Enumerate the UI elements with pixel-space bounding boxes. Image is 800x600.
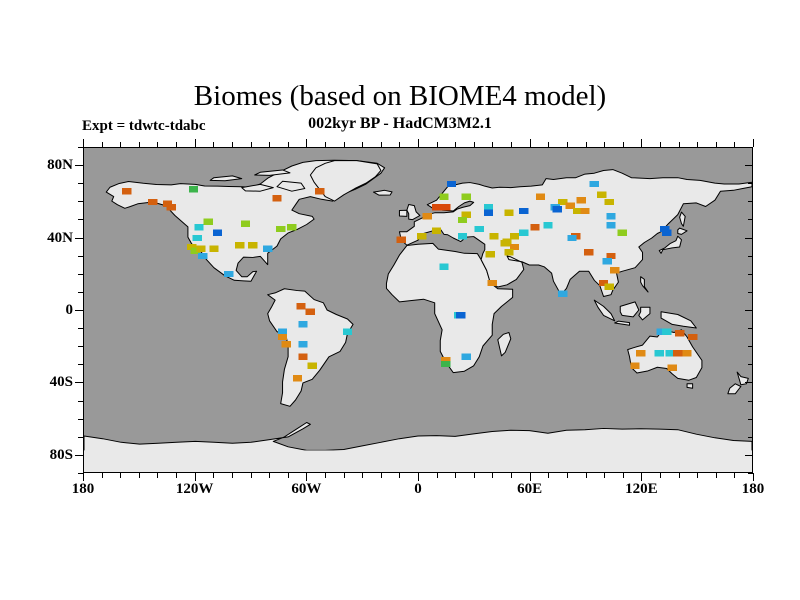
biome-marker <box>486 251 495 257</box>
x-axis-inner-tick <box>474 142 475 147</box>
x-axis-major-tick <box>418 473 419 481</box>
y-axis-label: 0 <box>66 303 74 318</box>
x-axis-inner-tick <box>344 142 345 147</box>
x-axis-label: 120E <box>625 482 658 497</box>
x-axis-minor-tick <box>176 473 177 478</box>
x-axis-minor-tick <box>120 473 121 478</box>
biome-marker <box>504 249 513 255</box>
biome-marker <box>193 235 202 241</box>
x-axis-inner-tick <box>697 142 698 147</box>
y-axis-minor-tick <box>78 256 83 257</box>
biome-marker <box>167 204 176 210</box>
biome-marker <box>504 210 513 216</box>
x-axis-minor-tick <box>213 473 214 478</box>
biome-marker <box>484 210 493 216</box>
biome-marker <box>675 330 684 336</box>
y-axis-inner-tick <box>745 165 753 166</box>
biome-marker <box>604 283 613 289</box>
x-axis-inner-tick <box>102 142 103 147</box>
y-axis-minor-tick <box>78 437 83 438</box>
x-axis-minor-tick <box>139 473 140 478</box>
biome-marker <box>397 237 406 243</box>
biome-marker <box>306 309 315 315</box>
biome-marker <box>584 249 593 255</box>
biome-marker <box>610 267 619 273</box>
y-axis-minor-tick <box>78 346 83 347</box>
x-axis-label: 60W <box>291 482 321 497</box>
biome-marker <box>439 264 448 270</box>
biome-marker <box>447 181 456 187</box>
y-axis-major-tick <box>75 455 83 456</box>
biome-marker <box>224 271 233 277</box>
x-axis-inner-tick <box>753 139 754 147</box>
x-axis-minor-tick <box>102 473 103 478</box>
biome-marker <box>278 334 287 340</box>
x-axis-label: 0 <box>414 482 422 497</box>
biome-marker <box>662 328 671 334</box>
biome-marker <box>606 213 615 219</box>
biome-marker <box>543 222 552 228</box>
biome-marker <box>673 350 682 356</box>
figure-canvas: Biomes (based on BIOME4 model) 002kyr BP… <box>0 0 800 600</box>
y-axis-inner-tick <box>748 328 753 329</box>
x-axis-minor-tick <box>269 473 270 478</box>
x-axis-inner-tick <box>586 142 587 147</box>
biome-marker <box>198 253 207 259</box>
y-axis-inner-tick <box>748 292 753 293</box>
y-axis-minor-tick <box>78 219 83 220</box>
y-axis-inner-tick <box>748 437 753 438</box>
x-axis-minor-tick <box>437 473 438 478</box>
x-axis-minor-tick <box>697 473 698 478</box>
biome-marker <box>196 246 205 252</box>
biome-marker <box>662 229 671 235</box>
x-axis-inner-tick <box>83 139 84 147</box>
x-axis-inner-tick <box>437 142 438 147</box>
x-axis-minor-tick <box>455 473 456 478</box>
biome-marker <box>577 197 586 203</box>
x-axis-minor-tick <box>474 473 475 478</box>
x-axis-minor-tick <box>344 473 345 478</box>
x-axis-minor-tick <box>362 473 363 478</box>
x-axis-minor-tick <box>623 473 624 478</box>
x-axis-inner-tick <box>213 142 214 147</box>
x-axis-major-tick <box>753 473 754 481</box>
biome-marker <box>590 181 599 187</box>
x-axis-inner-tick <box>232 142 233 147</box>
biome-marker <box>263 246 272 252</box>
biome-marker <box>272 195 281 201</box>
biome-marker <box>148 199 157 205</box>
biome-marker <box>343 328 352 334</box>
biome-marker <box>458 217 467 223</box>
map-plot-area <box>83 147 753 473</box>
x-axis-inner-tick <box>418 139 419 147</box>
x-axis-inner-tick <box>660 142 661 147</box>
biome-marker <box>298 321 307 327</box>
x-axis-inner-tick <box>176 142 177 147</box>
world-map <box>84 148 752 472</box>
x-axis-minor-tick <box>660 473 661 478</box>
y-axis-minor-tick <box>78 183 83 184</box>
x-axis-label: 120W <box>176 482 214 497</box>
x-axis-inner-tick <box>567 142 568 147</box>
y-axis-label: 80S <box>50 448 73 463</box>
y-axis-inner-tick <box>748 419 753 420</box>
x-axis-inner-tick <box>548 142 549 147</box>
y-axis-inner-tick <box>748 401 753 402</box>
biome-marker <box>519 229 528 235</box>
biome-marker <box>688 334 697 340</box>
biome-marker <box>241 220 250 226</box>
biome-marker <box>189 186 198 192</box>
y-axis-inner-tick <box>748 256 753 257</box>
biome-marker <box>432 204 441 210</box>
x-axis-minor-tick <box>511 473 512 478</box>
x-axis-minor-tick <box>325 473 326 478</box>
biome-marker <box>235 242 244 248</box>
biome-marker <box>488 280 497 286</box>
x-axis-inner-tick <box>195 139 196 147</box>
x-axis-inner-tick <box>362 142 363 147</box>
y-axis-minor-tick <box>78 292 83 293</box>
y-axis-major-tick <box>75 310 83 311</box>
biome-marker <box>441 204 450 210</box>
y-axis-minor-tick <box>78 364 83 365</box>
biome-marker <box>558 291 567 297</box>
x-axis-inner-tick <box>716 142 717 147</box>
biome-marker <box>287 224 296 230</box>
biome-marker <box>456 312 465 318</box>
biome-marker <box>213 229 222 235</box>
biome-marker <box>655 350 664 356</box>
x-axis-minor-tick <box>251 473 252 478</box>
x-axis-minor-tick <box>157 473 158 478</box>
biome-marker <box>603 258 612 264</box>
x-axis-label: 180 <box>742 482 765 497</box>
y-axis-minor-tick <box>78 274 83 275</box>
x-axis-minor-tick <box>548 473 549 478</box>
x-axis-inner-tick <box>251 142 252 147</box>
y-axis-inner-tick <box>748 147 753 148</box>
x-axis-minor-tick <box>567 473 568 478</box>
x-axis-inner-tick <box>325 142 326 147</box>
biome-marker <box>432 228 441 234</box>
biome-marker <box>315 188 324 194</box>
x-axis-minor-tick <box>381 473 382 478</box>
x-axis-minor-tick <box>716 473 717 478</box>
y-axis-minor-tick <box>78 419 83 420</box>
y-axis-inner-tick <box>745 382 753 383</box>
biome-marker <box>475 226 484 232</box>
biome-marker <box>682 350 691 356</box>
y-axis-inner-tick <box>745 238 753 239</box>
x-axis-inner-tick <box>399 142 400 147</box>
landmass-antarctic-interior <box>84 450 752 472</box>
biome-marker <box>604 199 613 205</box>
x-axis-inner-tick <box>604 142 605 147</box>
y-axis-inner-tick <box>748 201 753 202</box>
y-axis-label: 80N <box>47 158 73 173</box>
biome-marker <box>298 341 307 347</box>
x-axis-major-tick <box>530 473 531 481</box>
y-axis-inner-tick <box>748 183 753 184</box>
x-axis-inner-tick <box>455 142 456 147</box>
x-axis-inner-tick <box>623 142 624 147</box>
biome-marker <box>462 354 471 360</box>
biome-marker <box>536 193 545 199</box>
biome-marker <box>597 192 606 198</box>
x-axis-major-tick <box>83 473 84 481</box>
biome-marker <box>580 208 589 214</box>
y-axis-inner-tick <box>745 455 753 456</box>
x-axis-inner-tick <box>492 142 493 147</box>
y-axis-minor-tick <box>78 401 83 402</box>
x-axis-minor-tick <box>586 473 587 478</box>
biome-marker <box>209 246 218 252</box>
x-axis-inner-tick <box>288 142 289 147</box>
y-axis-inner-tick <box>748 364 753 365</box>
x-axis-minor-tick <box>492 473 493 478</box>
x-axis-major-tick <box>306 473 307 481</box>
y-axis-inner-tick <box>748 274 753 275</box>
biome-marker <box>308 363 317 369</box>
page-title: Biomes (based on BIOME4 model) <box>0 80 800 112</box>
experiment-label: Expt = tdwtc-tdabc <box>82 117 206 135</box>
y-axis-minor-tick <box>78 328 83 329</box>
x-axis-label: 60E <box>517 482 542 497</box>
y-axis-major-tick <box>75 382 83 383</box>
x-axis-inner-tick <box>139 142 140 147</box>
x-axis-major-tick <box>641 473 642 481</box>
biome-marker <box>194 224 203 230</box>
landmass-tasmania <box>687 384 693 389</box>
x-axis-minor-tick <box>399 473 400 478</box>
x-axis-inner-tick <box>306 139 307 147</box>
y-axis-inner-tick <box>748 346 753 347</box>
x-axis-inner-tick <box>157 142 158 147</box>
biome-marker <box>439 193 448 199</box>
biome-marker <box>282 341 291 347</box>
x-axis-major-tick <box>195 473 196 481</box>
x-axis-inner-tick <box>734 142 735 147</box>
biome-marker <box>630 363 639 369</box>
x-axis-minor-tick <box>679 473 680 478</box>
y-axis-major-tick <box>75 165 83 166</box>
biome-marker <box>423 213 432 219</box>
biome-marker <box>293 375 302 381</box>
biome-marker <box>298 354 307 360</box>
biome-marker <box>530 224 539 230</box>
biome-marker <box>567 235 576 241</box>
x-axis-minor-tick <box>734 473 735 478</box>
biome-marker <box>248 242 257 248</box>
biome-marker <box>122 188 131 194</box>
x-axis-inner-tick <box>641 139 642 147</box>
x-axis-label: 180 <box>72 482 95 497</box>
y-axis-major-tick <box>75 238 83 239</box>
biome-marker <box>276 226 285 232</box>
biome-marker <box>296 303 305 309</box>
biome-marker <box>458 233 467 239</box>
biome-marker <box>606 222 615 228</box>
biome-marker <box>617 229 626 235</box>
x-axis-minor-tick <box>288 473 289 478</box>
x-axis-minor-tick <box>604 473 605 478</box>
landmass-ireland <box>399 210 406 216</box>
biome-marker <box>636 350 645 356</box>
x-axis-minor-tick <box>232 473 233 478</box>
y-axis-inner-tick <box>748 219 753 220</box>
biome-marker <box>519 208 528 214</box>
x-axis-inner-tick <box>511 142 512 147</box>
y-axis-minor-tick <box>78 147 83 148</box>
biome-marker <box>553 206 562 212</box>
biome-marker <box>489 233 498 239</box>
biome-marker <box>668 364 677 370</box>
x-axis-inner-tick <box>530 139 531 147</box>
biome-marker <box>441 361 450 367</box>
x-axis-inner-tick <box>269 142 270 147</box>
y-axis-minor-tick <box>78 201 83 202</box>
biome-marker <box>417 233 426 239</box>
y-axis-label: 40S <box>50 375 73 390</box>
y-axis-inner-tick <box>745 310 753 311</box>
biome-marker <box>462 193 471 199</box>
x-axis-inner-tick <box>381 142 382 147</box>
biome-marker <box>204 219 213 225</box>
x-axis-inner-tick <box>679 142 680 147</box>
x-axis-inner-tick <box>120 142 121 147</box>
y-axis-label: 40N <box>47 231 73 246</box>
